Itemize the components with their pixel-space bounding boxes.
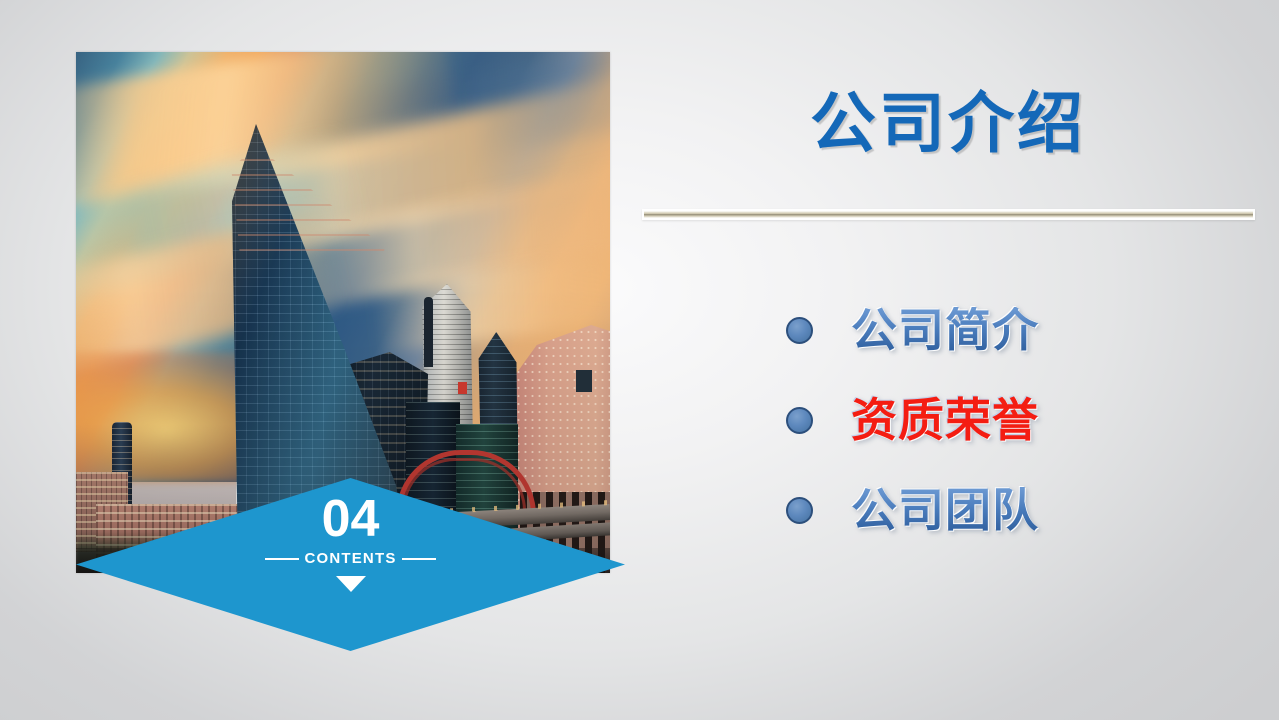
list-item-qualifications-honors[interactable]: 资质荣誉 (640, 375, 1256, 465)
facade-dark-window (576, 370, 592, 392)
page-title: 公司介绍 (640, 86, 1256, 162)
list-item-company-team[interactable]: 公司团队 (640, 465, 1256, 555)
bullet-icon (786, 407, 813, 434)
title-divider-inner (644, 211, 1253, 218)
list-item-label: 资质荣誉 (851, 397, 1039, 443)
list-item-label: 公司简介 (851, 307, 1039, 353)
bullet-icon (786, 317, 813, 344)
list-item-label: 公司团队 (851, 487, 1039, 533)
presentation-slide: 04 CONTENTS 公司介绍 公司简介 资质荣誉 公司团队 (0, 0, 1279, 720)
title-divider (642, 209, 1255, 220)
list-item-company-profile[interactable]: 公司简介 (640, 285, 1256, 375)
contents-list: 公司简介 资质荣誉 公司团队 (640, 285, 1256, 555)
bullet-icon (786, 497, 813, 524)
silver-skyscraper-slit (424, 297, 433, 367)
red-signage (458, 382, 467, 394)
